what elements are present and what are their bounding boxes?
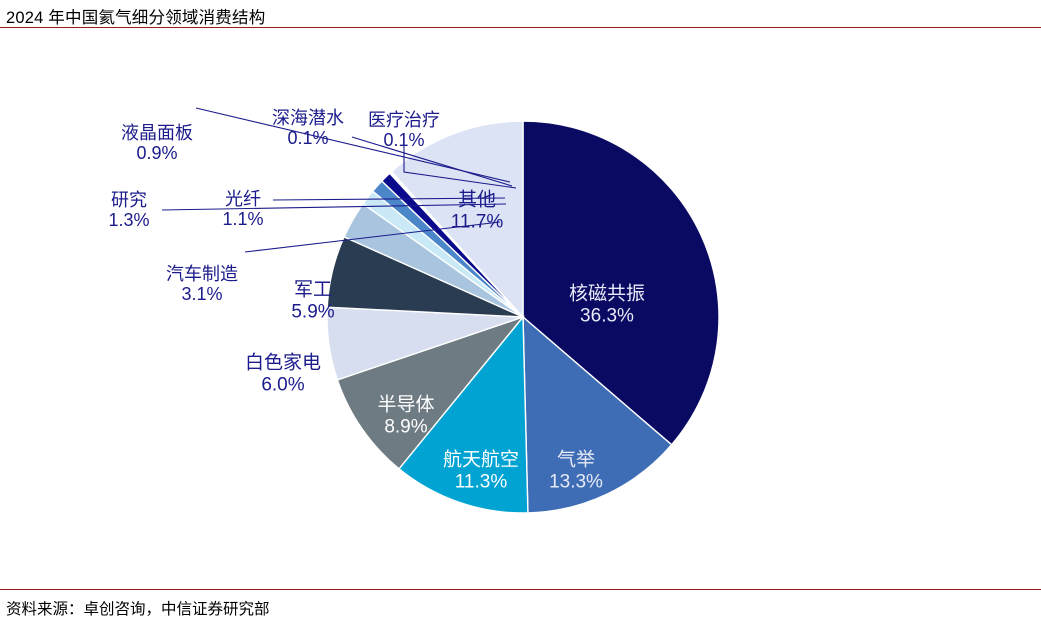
page-title: 2024 年中国氦气细分领域消费结构 xyxy=(6,4,265,28)
pie-label-value: 13.3% xyxy=(549,471,603,493)
pie-label-name: 其他 xyxy=(451,189,503,211)
pie-label-aerospace: 航天航空 11.3% xyxy=(443,449,519,492)
pie-label-value: 6.0% xyxy=(245,374,321,396)
pie-label-value: 5.9% xyxy=(291,301,334,323)
footer-divider xyxy=(0,589,1041,590)
pie-label-value: 0.1% xyxy=(272,128,344,148)
pie-label-white-goods: 白色家电 6.0% xyxy=(245,352,321,395)
pie-label-value: 1.1% xyxy=(222,209,263,229)
source-note: 资料来源：卓创咨询，中信证券研究部 xyxy=(6,597,270,619)
pie-label-value: 3.1% xyxy=(166,284,238,304)
pie-label-value: 0.9% xyxy=(121,143,193,163)
pie-label-mri: 核磁共振 36.3% xyxy=(569,283,645,326)
pie-label-deep-sea-diving: 深海潜水 0.1% xyxy=(272,108,344,148)
pie-label-name: 半导体 xyxy=(377,394,434,416)
pie-label-lcd: 液晶面板 0.9% xyxy=(121,123,193,163)
pie-label-value: 8.9% xyxy=(377,416,434,438)
pie-slice-group[interactable] xyxy=(327,121,719,513)
pie-label-value: 36.3% xyxy=(569,305,645,327)
pie-label-name: 液晶面板 xyxy=(121,123,193,143)
pie-label-value: 0.1% xyxy=(368,130,440,150)
pie-label-name: 研究 xyxy=(108,190,149,210)
pie-label-value: 11.7% xyxy=(451,211,503,233)
pie-label-name: 核磁共振 xyxy=(569,283,645,305)
pie-label-name: 航天航空 xyxy=(443,449,519,471)
pie-label-name: 光纤 xyxy=(222,189,263,209)
pie-label-semiconductor: 半导体 8.9% xyxy=(377,394,434,437)
pie-label-name: 军工 xyxy=(291,279,334,301)
pie-label-automotive: 汽车制造 3.1% xyxy=(166,264,238,304)
pie-label-value: 11.3% xyxy=(443,471,519,493)
pie-label-optical-fiber: 光纤 1.1% xyxy=(222,189,263,229)
pie-label-medical-treatment: 医疗治疗 0.1% xyxy=(368,110,440,150)
pie-label-name: 汽车制造 xyxy=(166,264,238,284)
pie-label-name: 深海潜水 xyxy=(272,108,344,128)
pie-label-name: 白色家电 xyxy=(245,352,321,374)
header-divider xyxy=(0,27,1041,28)
pie-label-other: 其他 11.7% xyxy=(451,189,503,232)
pie-chart: 液晶面板 0.9% 深海潜水 0.1% 医疗治疗 0.1% 研究 1.3% 光纤… xyxy=(0,30,1041,587)
pie-label-value: 1.3% xyxy=(108,210,149,230)
pie-label-name: 医疗治疗 xyxy=(368,110,440,130)
pie-label-gas-lift: 气举 13.3% xyxy=(549,449,603,492)
pie-chart-svg xyxy=(0,30,1041,587)
pie-label-defense: 军工 5.9% xyxy=(291,279,334,322)
pie-label-name: 气举 xyxy=(549,449,603,471)
pie-label-research: 研究 1.3% xyxy=(108,190,149,230)
